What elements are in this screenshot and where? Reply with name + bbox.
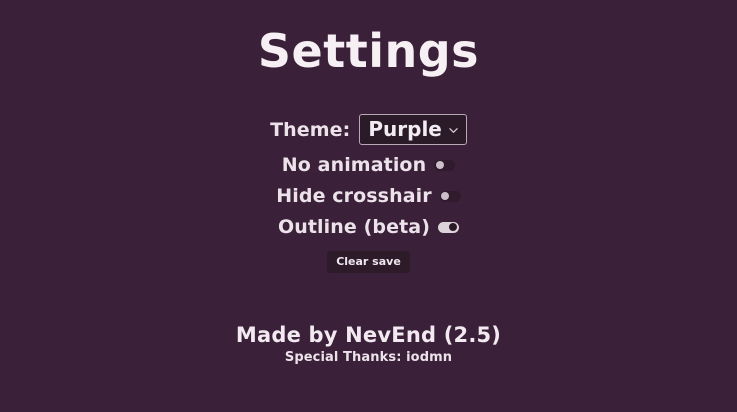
footer: Made by NevEnd (2.5) Special Thanks: iod… — [0, 324, 737, 365]
toggle-knob — [441, 192, 449, 200]
settings-page: Settings Theme: Purple No animation Hide… — [0, 0, 737, 412]
hide-crosshair-toggle[interactable] — [440, 191, 461, 202]
theme-select-value: Purple — [368, 118, 442, 140]
setting-row-no-animation: No animation — [209, 154, 529, 176]
footer-credit: Made by NevEnd (2.5) — [236, 324, 501, 347]
setting-row-hide-crosshair: Hide crosshair — [209, 185, 529, 207]
clear-save-button[interactable]: Clear save — [327, 251, 410, 273]
settings-list: Theme: Purple No animation Hide crosshai… — [209, 114, 529, 273]
footer-special-thanks: Special Thanks: iodmn — [285, 350, 452, 365]
hide-crosshair-label: Hide crosshair — [276, 185, 431, 207]
setting-row-outline-beta: Outline (beta) — [209, 216, 529, 238]
theme-setting-row: Theme: Purple — [209, 114, 529, 145]
toggle-knob — [436, 161, 444, 169]
no-animation-toggle[interactable] — [434, 160, 455, 171]
outline-beta-toggle[interactable] — [438, 222, 459, 233]
theme-select[interactable]: Purple — [359, 114, 467, 145]
chevron-down-icon — [449, 126, 458, 135]
no-animation-label: No animation — [282, 154, 426, 176]
page-title: Settings — [258, 28, 479, 74]
toggle-knob — [449, 223, 457, 231]
theme-label: Theme: — [270, 119, 350, 141]
outline-beta-label: Outline (beta) — [278, 216, 430, 238]
